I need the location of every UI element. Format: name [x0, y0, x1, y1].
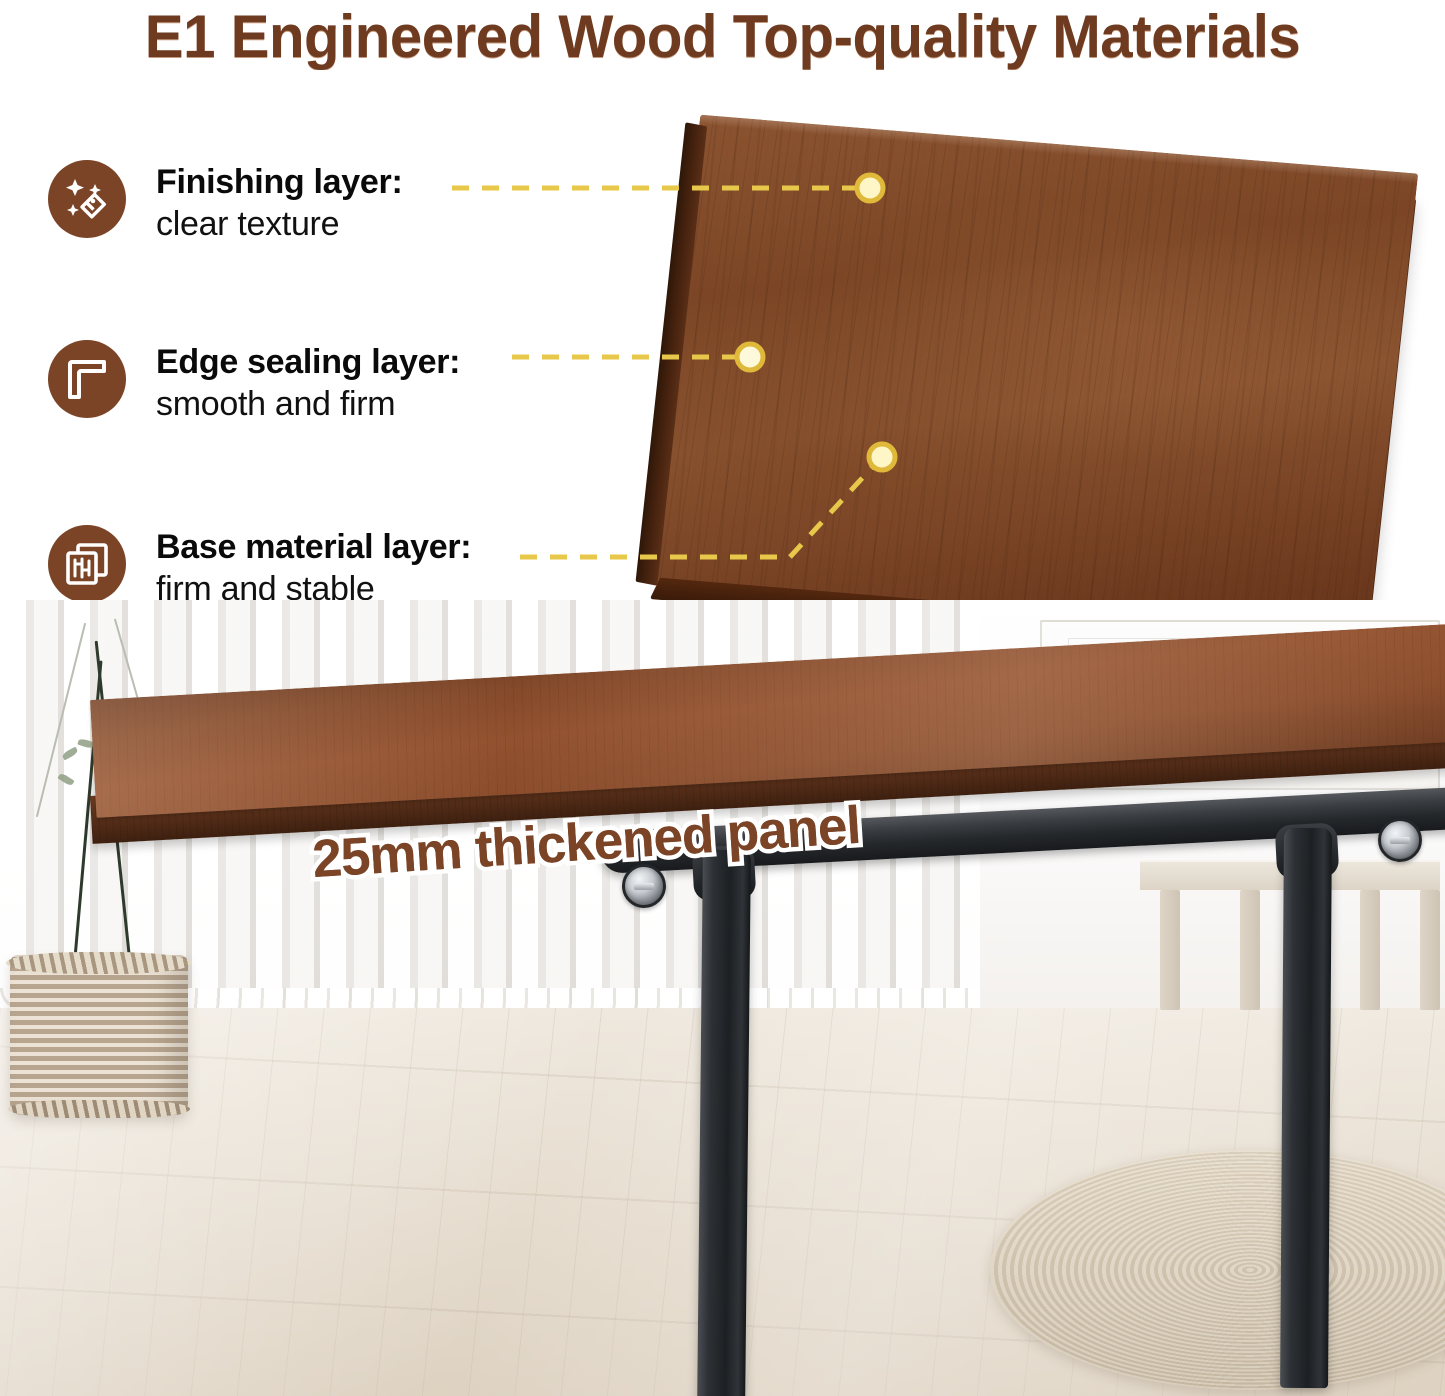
panel-wood-grain-surface — [650, 115, 1419, 641]
feature-subtitle: clear texture — [156, 202, 402, 246]
room-scene — [0, 600, 1445, 1396]
page-title: E1 Engineered Wood Top-quality Materials — [22, 2, 1424, 71]
feature-title: Finishing layer: — [156, 162, 402, 202]
feature-item-base-material-layer: Base material layer: firm and stable — [48, 525, 471, 611]
desk-leg — [1280, 828, 1332, 1388]
feature-text-block: Base material layer: firm and stable — [156, 525, 471, 611]
edge-corner-icon — [48, 340, 126, 418]
feature-title: Edge sealing layer: — [156, 342, 460, 382]
feature-subtitle: smooth and firm — [156, 382, 460, 426]
feature-title: Base material layer: — [156, 527, 471, 567]
panel-face-group — [650, 115, 1419, 641]
layered-boards-icon — [48, 525, 126, 603]
feature-text-block: Edge sealing layer: smooth and firm — [156, 340, 460, 426]
feature-item-edge-sealing-layer: Edge sealing layer: smooth and firm — [48, 340, 460, 426]
sparkle-polish-icon — [48, 160, 126, 238]
feature-text-block: Finishing layer: clear texture — [156, 160, 402, 246]
desk-leg — [697, 850, 751, 1396]
feature-item-finishing-layer: Finishing layer: clear texture — [48, 160, 402, 246]
chrome-adjust-knob — [1378, 818, 1422, 862]
chrome-adjust-knob — [622, 864, 666, 908]
walnut-wood-panel — [690, 120, 1430, 630]
walnut-dining-desk — [0, 600, 1445, 1396]
